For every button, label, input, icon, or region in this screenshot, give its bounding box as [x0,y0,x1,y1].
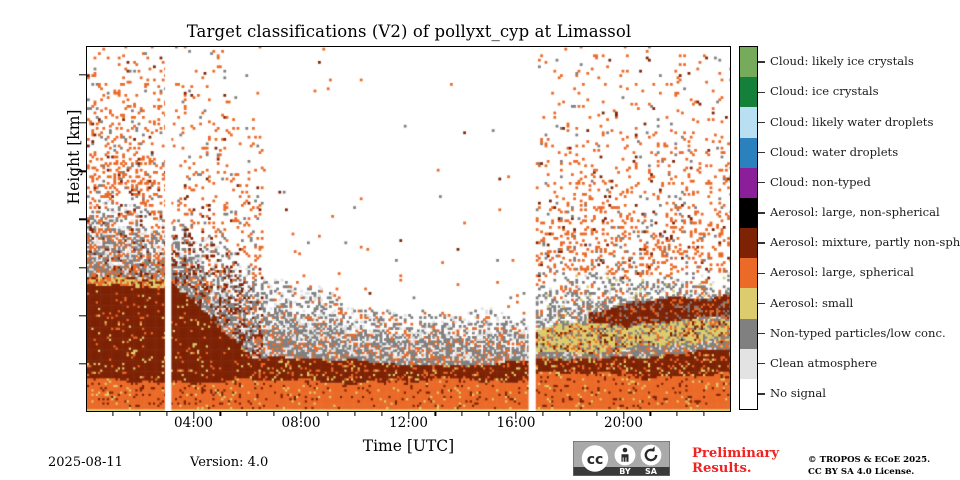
legend-tick-icon [758,182,765,183]
colorbar-band [740,198,757,228]
y-tick-mark [79,171,86,172]
x-tick-minor-mark [327,412,328,416]
x-tick-minor-mark [542,412,543,416]
legend-item-label: Non-typed particles/low conc. [770,328,946,340]
y-tick-mark [79,363,86,364]
legend-tick-icon [758,212,765,213]
legend-tick-icon [758,303,765,304]
x-tick-minor-mark [650,412,651,416]
legend-tick-icon [758,393,765,394]
x-tick-mark [515,412,516,419]
preliminary-line-1: Preliminary [692,447,788,462]
y-axis-label: Height [km] [65,77,83,237]
x-tick-minor-mark [166,412,167,416]
x-tick-minor-mark [462,412,463,416]
x-tick-mark [408,412,409,419]
legend-tick-icon [758,333,765,334]
y-tick-mark [79,267,86,268]
x-tick-minor-mark [247,412,248,416]
x-tick-minor-mark [354,412,355,416]
colorbar-band [740,138,757,168]
colorbar-band [740,77,757,107]
x-tick-minor-mark [704,412,705,416]
y-tick-mark [79,74,86,75]
figure-root: Target classifications (V2) of pollyxt_c… [0,0,960,480]
cc-sa-text: SA [645,467,658,476]
cc-by-sa-badge[interactable]: cc BY SA [573,441,670,476]
legend-item-label: Aerosol: mixture, partly non-spherical [770,237,960,249]
colorbar-band [740,288,757,318]
legend-item-label: Cloud: water droplets [770,147,898,159]
copyright-line-1: © TROPOS & ECoE 2025. [808,455,930,467]
colorbar-band [740,258,757,288]
legend-tick-icon [758,242,765,243]
legend-item-label: Cloud: likely water droplets [770,117,933,129]
x-tick-minor-mark [381,412,382,416]
legend-item-label: Cloud: likely ice crystals [770,56,914,68]
legend-item-label: No signal [770,388,826,400]
x-tick-minor-mark [677,412,678,416]
x-tick-minor-mark [112,412,113,416]
colorbar-band [740,47,757,77]
x-tick-minor-mark [489,412,490,416]
x-tick-minor-mark [435,412,436,416]
x-tick-mark [300,412,301,419]
classification-heatmap [87,47,731,412]
legend-tick-icon [758,61,765,62]
x-tick-mark [623,412,624,419]
colorbar[interactable] [739,46,758,410]
legend-item-label: Aerosol: large, non-spherical [770,207,940,219]
legend-item-label: Cloud: ice crystals [770,86,879,98]
x-tick-minor-mark [139,412,140,416]
copyright-note: © TROPOS & ECoE 2025. CC BY SA 4.0 Licen… [808,455,930,478]
legend-item-label: Clean atmosphere [770,358,877,370]
colorbar-band [740,168,757,198]
preliminary-line-2: Results. [692,462,788,477]
legend-tick-icon [758,363,765,364]
colorbar-band [740,319,757,349]
preliminary-results-note: Preliminary Results. [692,447,788,477]
y-tick-mark [79,315,86,316]
x-tick-minor-mark [220,412,221,416]
copyright-line-2: CC BY SA 4.0 License. [808,467,930,479]
legend-tick-icon [758,92,765,93]
cc-by-text: BY [619,467,631,476]
legend-item-label: Cloud: non-typed [770,177,871,189]
legend-item-label: Aerosol: small [770,298,853,310]
legend-tick-icon [758,273,765,274]
page-title: Target classifications (V2) of pollyxt_c… [86,22,732,41]
x-tick-mark [193,412,194,419]
colorbar-band [740,349,757,379]
x-tick-minor-mark [569,412,570,416]
x-tick-minor-mark [274,412,275,416]
legend-tick-icon [758,152,765,153]
footer-date: 2025-08-11 [48,455,123,470]
colorbar-band [740,228,757,258]
colorbar-band [740,107,757,137]
colorbar-band [740,379,757,409]
y-tick-mark [79,219,86,220]
x-tick-minor-mark [596,412,597,416]
footer-version: Version: 4.0 [190,455,268,470]
cc-mark-text: cc [587,452,604,468]
legend-tick-icon [758,122,765,123]
legend-item-label: Aerosol: large, spherical [770,267,914,279]
y-tick-mark [79,122,86,123]
plot-area[interactable] [86,46,731,412]
